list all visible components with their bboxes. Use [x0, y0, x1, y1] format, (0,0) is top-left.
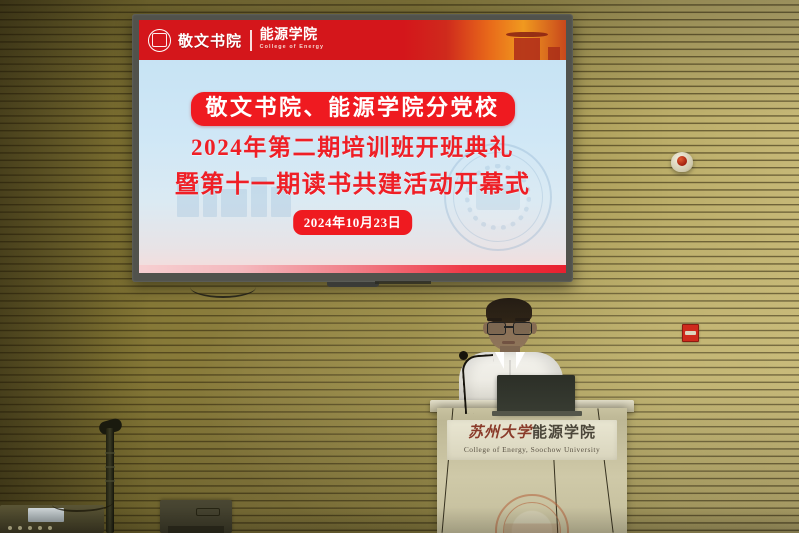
stand-clip: [105, 480, 115, 482]
glasses-bridge: [504, 326, 513, 328]
speaker-eyebrow-right: [515, 318, 530, 321]
microphone-capsule-icon: [459, 351, 468, 360]
slide-title-line3: 暨第十一期读书共建活动开幕式: [175, 164, 531, 199]
slide-org-secondary-en: College of Energy: [260, 45, 325, 50]
mixer-knob[interactable]: [8, 526, 12, 530]
slide-footer-bar: [139, 265, 566, 273]
seal-logo-icon: [148, 29, 171, 52]
podium-name-plate: 苏州大学能源学院 College of Energy, Soochow Univ…: [447, 420, 617, 460]
slide-org-primary: 敬文书院: [178, 30, 242, 51]
display-mount-foot: [327, 282, 379, 287]
display-under-bracket: [375, 281, 431, 284]
stand-clip: [105, 452, 115, 454]
crate-base: [168, 526, 224, 533]
slide-title-line2: 2024年第二期培训班开班典礼: [191, 128, 514, 162]
mixer-knob[interactable]: [48, 526, 52, 530]
glasses-lens-right: [513, 322, 532, 335]
glasses-lens-left: [487, 322, 506, 335]
slide-date-badge: 2024年10月23日: [293, 210, 413, 235]
wall-mounted-display[interactable]: 敬文书院 能源学院 College of Energy 敬文书院、能源学院分党校…: [132, 14, 573, 282]
laptop[interactable]: [497, 375, 575, 413]
podium-name-plate-en: College of Energy, Soochow University: [464, 445, 600, 454]
dome-indicator-light-icon: [671, 152, 693, 172]
shirt-collar-right: [516, 352, 525, 369]
speaker-eyebrow-left: [487, 318, 502, 321]
stand-clip: [105, 466, 115, 468]
shirt-collar-left: [495, 352, 504, 369]
podium-university-cn: 苏州大学: [468, 425, 532, 441]
slide-org-secondary: 能源学院: [260, 29, 325, 43]
podium-college-cn: 能源学院: [532, 425, 596, 441]
gooseneck-microphone: [461, 354, 497, 414]
display-screen: 敬文书院 能源学院 College of Energy 敬文书院、能源学院分党校…: [139, 20, 566, 273]
photo-scene: 敬文书院 能源学院 College of Energy 敬文书院、能源学院分党校…: [0, 0, 799, 533]
display-cable: [190, 276, 256, 298]
slide-title-line1: 敬文书院、能源学院分党校: [205, 95, 499, 120]
fire-alarm-pull-station-icon[interactable]: [682, 324, 699, 342]
header-divider: [250, 30, 252, 51]
wall-shadow-left: [0, 0, 150, 533]
mixer-knob[interactable]: [18, 526, 22, 530]
speaker-mouth: [502, 341, 515, 344]
podium-name-plate-cn: 苏州大学能源学院: [468, 426, 596, 441]
slide-header-banner: 敬文书院 能源学院 College of Energy: [139, 20, 566, 60]
audio-mixer-display: [28, 508, 64, 522]
laptop-base: [492, 411, 582, 416]
crate-handle-icon: [196, 508, 220, 516]
pagoda-silhouette-small-icon: [548, 47, 560, 60]
pagoda-silhouette-icon: [514, 38, 540, 60]
slide-title-pill: 敬文书院、能源学院分党校: [190, 92, 514, 126]
slide-date-text: 2024年10月23日: [304, 215, 402, 230]
mixer-knob[interactable]: [28, 526, 32, 530]
mixer-knob[interactable]: [38, 526, 42, 530]
glasses-icon: [486, 322, 532, 334]
podium-seal-band: [504, 524, 560, 533]
